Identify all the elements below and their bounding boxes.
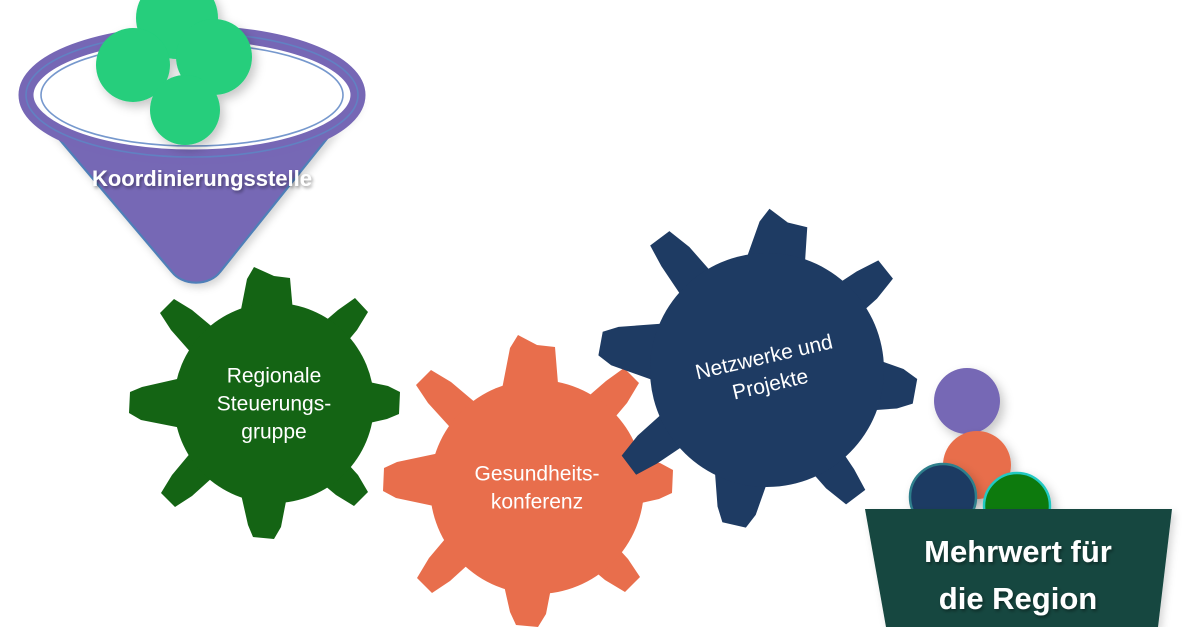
basket-label-line-2: die Region (939, 581, 1097, 616)
gear-green-label-line-3: gruppe (241, 421, 306, 444)
funnel-group: Koordinierungsstelle (26, 0, 358, 283)
diagram-canvas: Koordinierungsstelle Regionale Steuerung… (0, 0, 1200, 627)
gear-orange-label-line-2: konferenz (491, 491, 583, 514)
funnel-label: Koordinierungsstelle (92, 166, 312, 191)
gear-green-label-line-1: Regionale (227, 365, 322, 388)
basket-group: Mehrwert für die Region (865, 509, 1172, 627)
gear-regionale-steuerungsgruppe: Regionale Steuerungs- gruppe (129, 267, 400, 539)
gear-gesundheitskonferenz: Gesundheits- konferenz (383, 335, 673, 627)
process-diagram-svg: Koordinierungsstelle Regionale Steuerung… (0, 0, 1200, 627)
input-circle-4 (150, 75, 220, 145)
output-circle-purple (934, 368, 1000, 434)
gear-hub-orange (430, 380, 644, 594)
gear-orange-label-line-1: Gesundheits- (475, 463, 600, 486)
basket-label-line-1: Mehrwert für (924, 534, 1112, 569)
funnel-input-circles (96, 0, 252, 145)
gear-green-label-line-2: Steuerungs- (217, 393, 331, 416)
